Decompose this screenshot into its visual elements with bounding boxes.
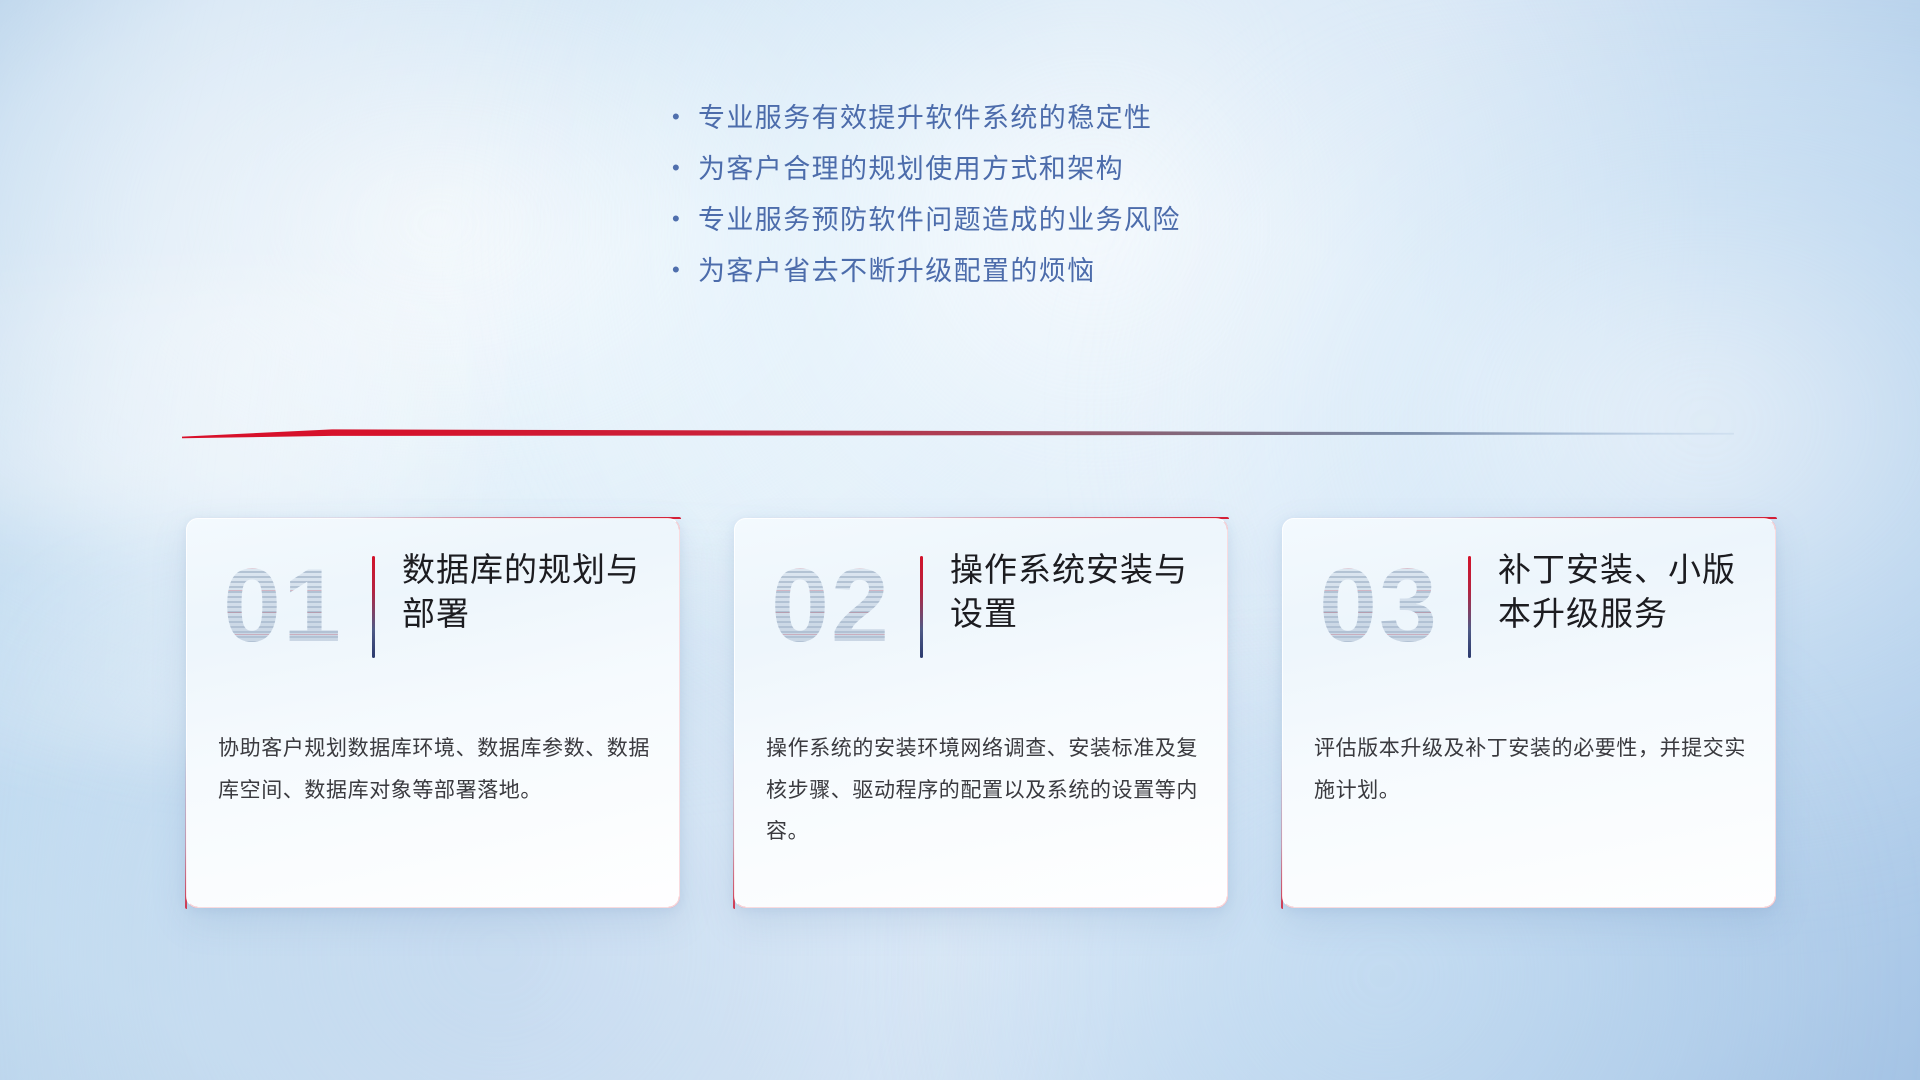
service-card[interactable]: 03 03 补丁安装、小版本升级服务 评估版本升级及补丁安装的必要性，并提交实施… xyxy=(1282,518,1776,908)
card-ghost-number: 02 xyxy=(762,546,900,666)
service-card-list: 01 01 数据库的规划与部署 协助客户规划数据库环境、数据库参数、数据库空间、… xyxy=(186,518,1776,908)
card-header: 02 02 操作系统安装与设置 xyxy=(734,518,1228,714)
card-description: 评估版本升级及补丁安装的必要性，并提交实施计划。 xyxy=(1314,728,1748,811)
card-title: 数据库的规划与部署 xyxy=(402,548,658,636)
card-title-accent-bar xyxy=(920,556,923,658)
benefits-bullet-list: • 专业服务有效提升软件系统的稳定性 • 为客户合理的规划使用方式和架构 • 专… xyxy=(672,96,1181,300)
bullet-text: 为客户合理的规划使用方式和架构 xyxy=(698,147,1124,186)
section-divider xyxy=(182,424,1734,444)
bullet-text: 专业服务有效提升软件系统的稳定性 xyxy=(698,96,1152,135)
bullet-item: • 为客户合理的规划使用方式和架构 xyxy=(672,147,1181,198)
card-title: 操作系统安装与设置 xyxy=(950,548,1206,636)
bullet-text: 专业服务预防软件问题造成的业务风险 xyxy=(698,198,1181,237)
bullet-item: • 专业服务有效提升软件系统的稳定性 xyxy=(672,96,1181,147)
divider-shape-icon xyxy=(182,424,1734,444)
bullet-text: 为客户省去不断升级配置的烦恼 xyxy=(698,249,1096,288)
card-header: 01 01 数据库的规划与部署 xyxy=(186,518,680,714)
card-header: 03 03 补丁安装、小版本升级服务 xyxy=(1282,518,1776,714)
card-ghost-number: 03 xyxy=(1310,546,1448,666)
service-card[interactable]: 02 02 操作系统安装与设置 操作系统的安装环境网络调查、安装标准及复核步骤、… xyxy=(734,518,1228,908)
bullet-dot-icon: • xyxy=(672,157,698,179)
card-title-accent-bar xyxy=(1468,556,1471,658)
service-card[interactable]: 01 01 数据库的规划与部署 协助客户规划数据库环境、数据库参数、数据库空间、… xyxy=(186,518,680,908)
card-title: 补丁安装、小版本升级服务 xyxy=(1498,548,1754,636)
bullet-dot-icon: • xyxy=(672,208,698,230)
bullet-item: • 为客户省去不断升级配置的烦恼 xyxy=(672,249,1181,300)
bullet-item: • 专业服务预防软件问题造成的业务风险 xyxy=(672,198,1181,249)
card-description: 操作系统的安装环境网络调查、安装标准及复核步骤、驱动程序的配置以及系统的设置等内… xyxy=(766,728,1200,853)
card-description: 协助客户规划数据库环境、数据库参数、数据库空间、数据库对象等部署落地。 xyxy=(218,728,652,811)
bullet-dot-icon: • xyxy=(672,259,698,281)
card-ghost-number: 01 xyxy=(214,546,352,666)
card-title-accent-bar xyxy=(372,556,375,658)
bullet-dot-icon: • xyxy=(672,106,698,128)
